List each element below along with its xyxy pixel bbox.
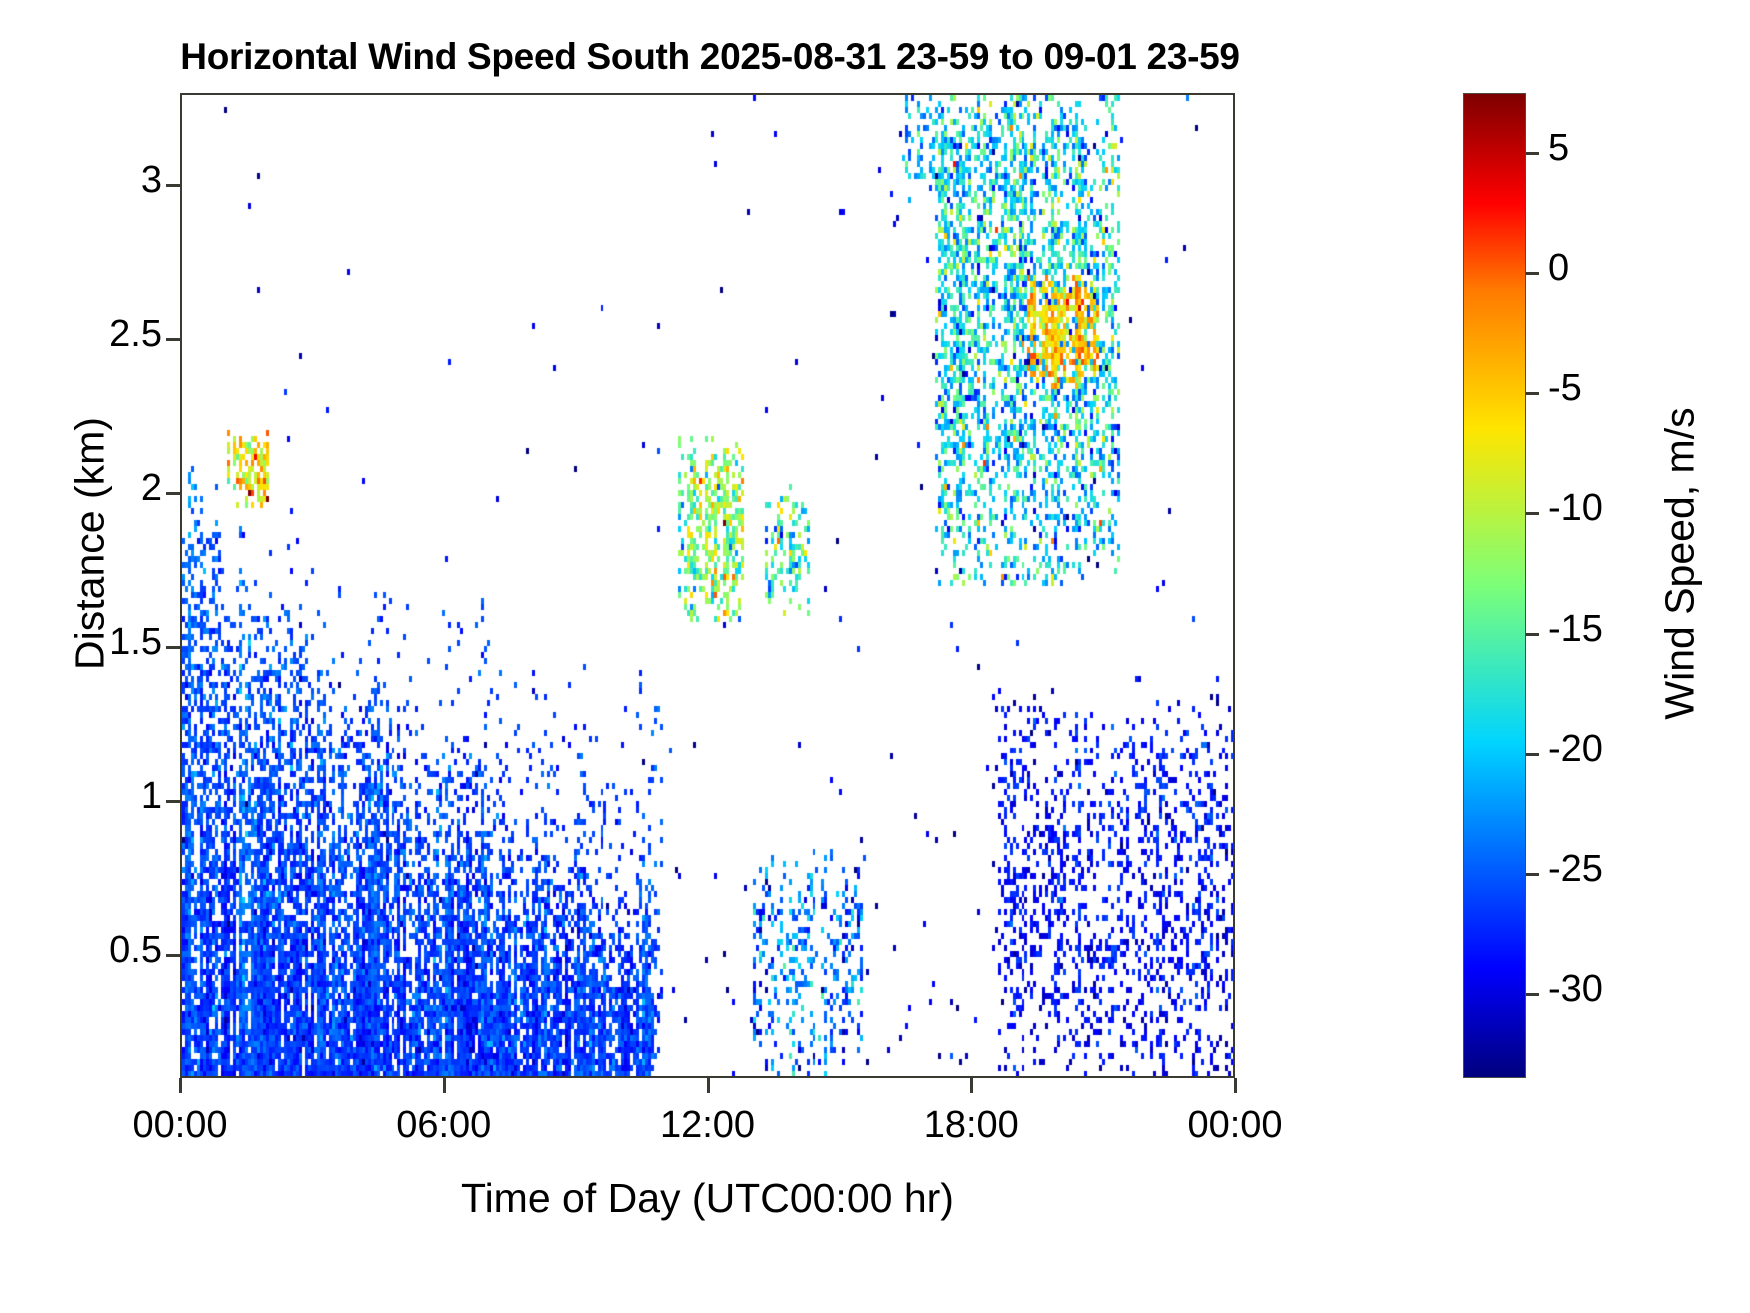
colorbar-tick-label: 0 [1548, 247, 1569, 290]
colorbar-tick-label: -30 [1548, 968, 1603, 1011]
y-tick-label: 3 [141, 159, 162, 202]
wind-speed-time-height-figure: Horizontal Wind Speed South 2025-08-31 2… [0, 0, 1750, 1313]
colorbar-tick-mark [1526, 512, 1539, 515]
x-tick-mark [179, 1078, 182, 1093]
y-tick-mark [166, 954, 181, 957]
colorbar-label: Wind Speed, m/s [1657, 304, 1704, 824]
x-tick-label: 06:00 [334, 1104, 554, 1147]
colorbar [1463, 93, 1526, 1078]
colorbar-tick-mark [1526, 993, 1539, 996]
colorbar-tick-mark [1526, 633, 1539, 636]
y-tick-mark [166, 800, 181, 803]
x-tick-mark [970, 1078, 973, 1093]
y-tick-label: 0.5 [109, 929, 162, 972]
y-tick-label: 1.5 [109, 621, 162, 664]
colorbar-tick-mark [1526, 152, 1539, 155]
y-tick-label: 1 [141, 775, 162, 818]
colorbar-tick-label: -5 [1548, 367, 1582, 410]
colorbar-tick-label: -20 [1548, 728, 1603, 771]
y-tick-mark [166, 646, 181, 649]
colorbar-tick-mark [1526, 753, 1539, 756]
y-tick-mark [166, 184, 181, 187]
colorbar-gradient [1463, 93, 1526, 1078]
x-tick-label: 18:00 [861, 1104, 1081, 1147]
colorbar-tick-mark [1526, 272, 1539, 275]
plot-area [180, 93, 1235, 1078]
x-tick-label: 00:00 [70, 1104, 290, 1147]
colorbar-tick-label: -15 [1548, 608, 1603, 651]
colorbar-tick-label: 5 [1548, 127, 1569, 170]
heatmap-canvas [182, 95, 1233, 1076]
x-tick-mark [1234, 1078, 1237, 1093]
colorbar-tick-label: -25 [1548, 848, 1603, 891]
y-axis-label: Distance (km) [67, 264, 114, 824]
y-tick-label: 2.5 [109, 313, 162, 356]
colorbar-tick-mark [1526, 392, 1539, 395]
x-tick-mark [443, 1078, 446, 1093]
colorbar-tick-mark [1526, 873, 1539, 876]
x-tick-label: 00:00 [1125, 1104, 1345, 1147]
page-title: Horizontal Wind Speed South 2025-08-31 2… [0, 36, 1420, 78]
x-tick-label: 12:00 [598, 1104, 818, 1147]
y-tick-label: 2 [141, 467, 162, 510]
y-tick-mark [166, 338, 181, 341]
y-tick-mark [166, 492, 181, 495]
colorbar-tick-label: -10 [1548, 487, 1603, 530]
x-tick-mark [707, 1078, 710, 1093]
x-axis-label: Time of Day (UTC00:00 hr) [180, 1175, 1235, 1222]
